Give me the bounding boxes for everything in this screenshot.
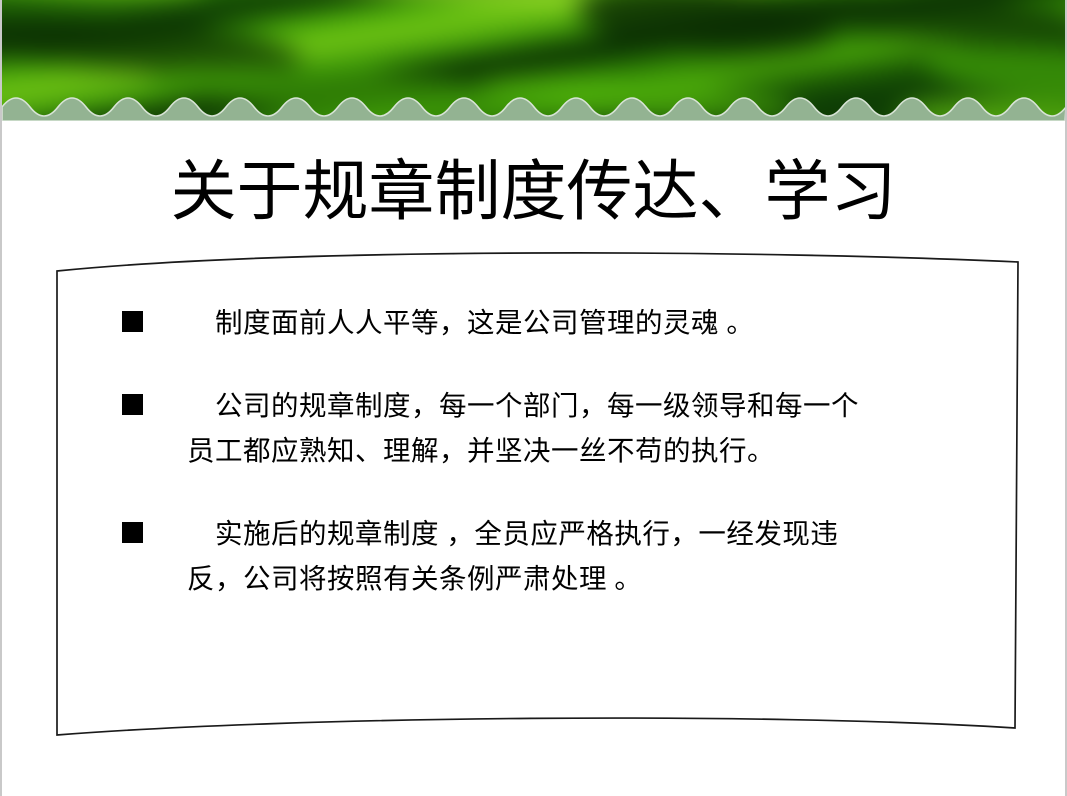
- header-banner: [2, 0, 1065, 121]
- bullet-text: 实施后的规章制度 ，全员应严格执行，一经发现违 反，公司将按照有关条例严肃处理 …: [60, 511, 1010, 601]
- bullet-line: 公司的规章制度，每一个部门，每一级领导和每一个: [215, 390, 859, 421]
- square-bullet-icon: [122, 522, 143, 543]
- square-bullet-icon: [122, 311, 143, 332]
- bullet-list: 制度面前人人平等，这是公司管理的灵魂 。 公司的规章制度，每一个部门，每一级领导…: [60, 300, 1010, 639]
- bullet-line: 员工都应熟知、理解，并坚决一丝不苟的执行。: [187, 428, 1010, 473]
- bullet-line: 反，公司将按照有关条例严肃处理 。: [187, 556, 1010, 601]
- scalloped-wave-divider: [2, 87, 1065, 121]
- bullet-text: 制度面前人人平等，这是公司管理的灵魂 。: [60, 300, 1010, 345]
- bullet-line: 实施后的规章制度 ，全员应严格执行，一经发现违: [215, 518, 838, 549]
- list-item: 公司的规章制度，每一个部门，每一级领导和每一个 员工都应熟知、理解，并坚决一丝不…: [60, 383, 1010, 473]
- list-item: 制度面前人人平等，这是公司管理的灵魂 。: [60, 300, 1010, 345]
- bullet-text: 公司的规章制度，每一个部门，每一级领导和每一个 员工都应熟知、理解，并坚决一丝不…: [60, 383, 1010, 473]
- bullet-line: 制度面前人人平等，这是公司管理的灵魂 。: [215, 307, 754, 338]
- list-item: 实施后的规章制度 ，全员应严格执行，一经发现违 反，公司将按照有关条例严肃处理 …: [60, 511, 1010, 601]
- square-bullet-icon: [122, 394, 143, 415]
- presentation-slide: 关于规章制度传达、学习 制度面前人人平等，这是公司管理的灵魂 。 公司的规章制度…: [0, 0, 1067, 796]
- page-title: 关于规章制度传达、学习: [0, 152, 1067, 230]
